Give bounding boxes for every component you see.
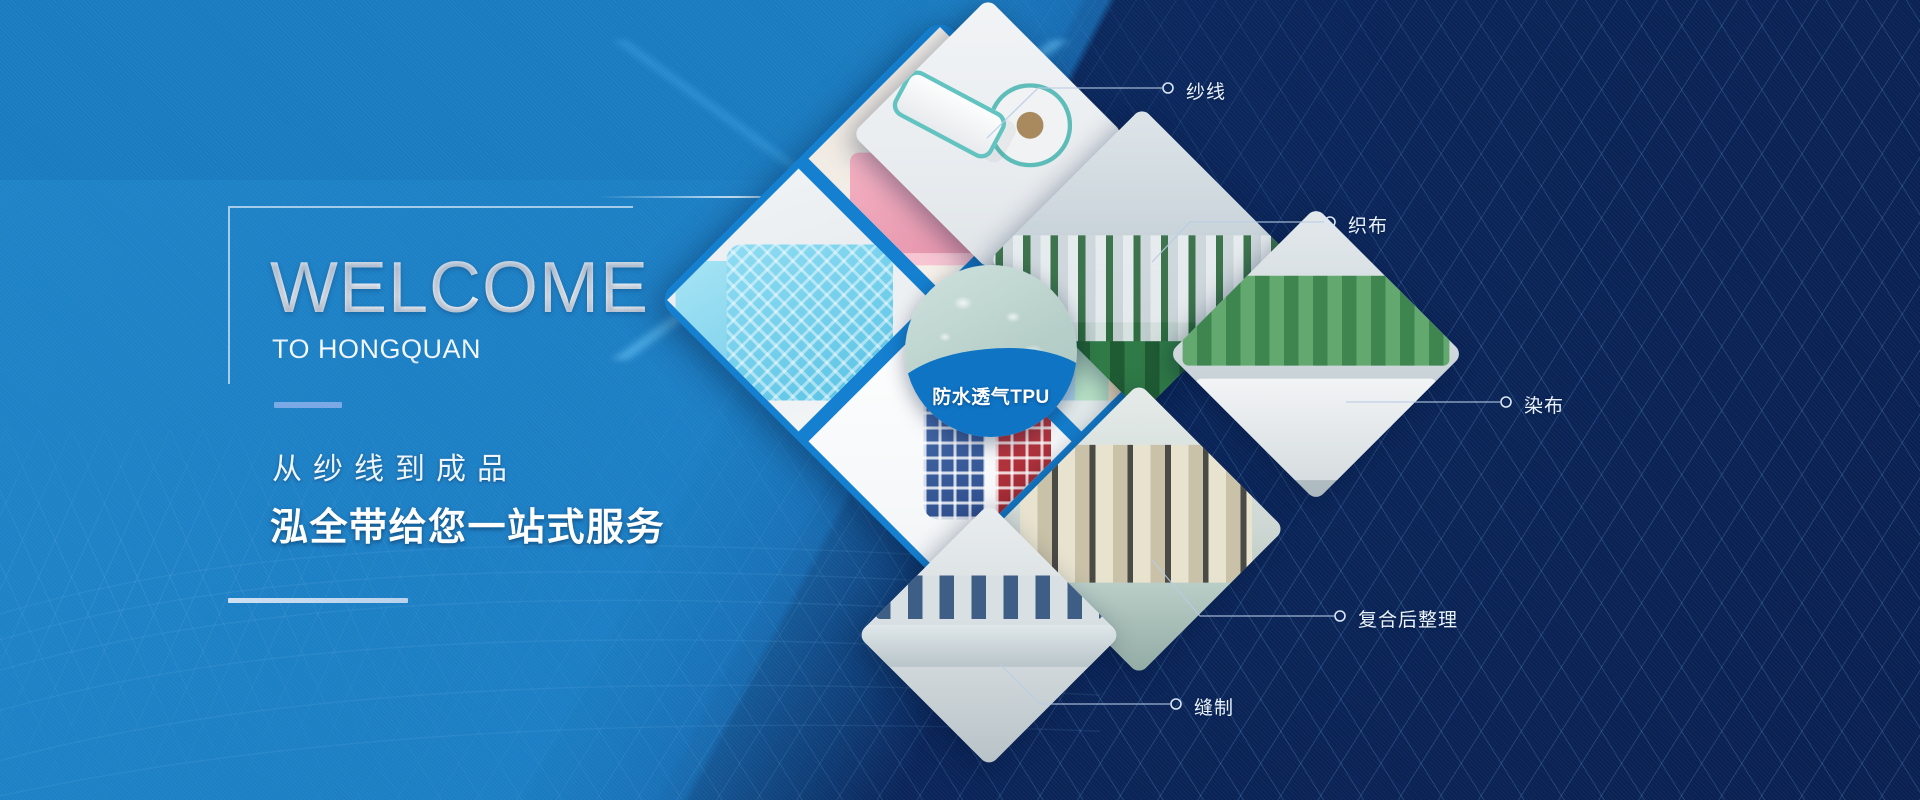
tpu-feature-badge[interactable]: 防水透气TPU: [905, 265, 1077, 437]
label-sewing: 缝制: [1194, 693, 1234, 720]
tagline-chinese: 从纱线到成品: [272, 444, 518, 488]
accent-rule-long: [228, 598, 408, 603]
diamond-photo-cluster: 防水透气TPU: [700, 0, 1920, 800]
badge-label: 防水透气TPU: [905, 382, 1077, 409]
headline-welcome: WELCOME: [270, 252, 649, 324]
label-weaving: 织布: [1348, 211, 1388, 238]
headline-chinese: 泓全带给您一站式服务: [270, 496, 665, 551]
accent-rule-short: [274, 402, 342, 408]
label-dyeing: 染布: [1524, 391, 1564, 418]
callout-connectors: [700, 0, 1920, 800]
subhead-to-hongquan: TO HONGQUAN: [272, 334, 481, 365]
label-yarn: 纱线: [1186, 77, 1226, 104]
label-laminating: 复合后整理: [1358, 605, 1458, 632]
welcome-banner: WELCOME TO HONGQUAN 从纱线到成品 泓全带给您一站式服务: [0, 0, 1920, 800]
